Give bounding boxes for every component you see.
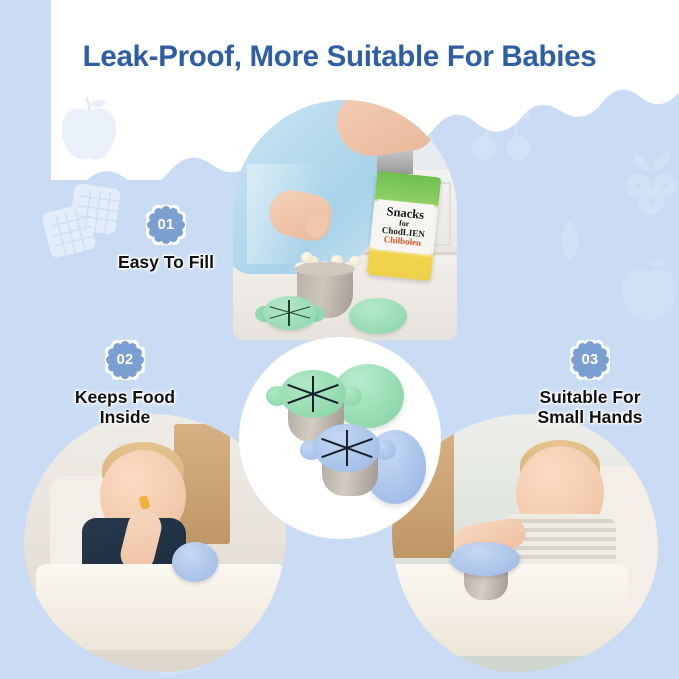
page-title: Leak-Proof, More Suitable For Babies — [0, 40, 679, 74]
badge-03: 03 — [570, 340, 610, 380]
filling-snack-cup-photo: Snacks for ChodLIEN Chilbolen — [233, 100, 457, 340]
high-chair-tray-right — [392, 564, 628, 656]
blue-cup-on-tray — [172, 542, 218, 582]
snack-bag-line4: Chilbolen — [383, 235, 421, 248]
high-chair-tray — [36, 564, 286, 650]
green-flat-lid — [349, 298, 407, 334]
product-hero-photo — [240, 338, 440, 538]
badge-03-number: 03 — [582, 352, 599, 368]
apple-icon-right — [614, 250, 679, 324]
feature-02-label-line2: Inside — [40, 407, 210, 427]
feature-01-label: Easy To Fill — [86, 252, 246, 272]
blue-snack-cup — [306, 424, 390, 498]
feature-suitable-for-small-hands: 03 Suitable For Small Hands — [505, 340, 675, 427]
badge-01-number: 01 — [158, 217, 175, 233]
badge-01: 01 — [146, 205, 186, 245]
snack-bag-label: Snacks for ChodLIEN Chilbolen — [373, 199, 434, 255]
blue-cup-lid-right — [450, 542, 520, 576]
badge-02-number: 02 — [117, 352, 134, 368]
feature-easy-to-fill: 01 Easy To Fill — [86, 205, 246, 272]
snack-bag: Snacks for ChodLIEN Chilbolen — [367, 171, 442, 281]
feature-02-label-line1: Keeps Food — [40, 387, 210, 407]
leaf-icon — [556, 218, 586, 262]
feature-03-label-line2: Small Hands — [505, 407, 675, 427]
feature-keeps-food-inside: 02 Keeps Food Inside — [40, 340, 210, 427]
green-cup-lid — [255, 296, 325, 338]
badge-02: 02 — [105, 340, 145, 380]
infographic-canvas: Leak-Proof, More Suitable For Babies S — [0, 0, 679, 679]
feature-03-label-line1: Suitable For — [505, 387, 675, 407]
